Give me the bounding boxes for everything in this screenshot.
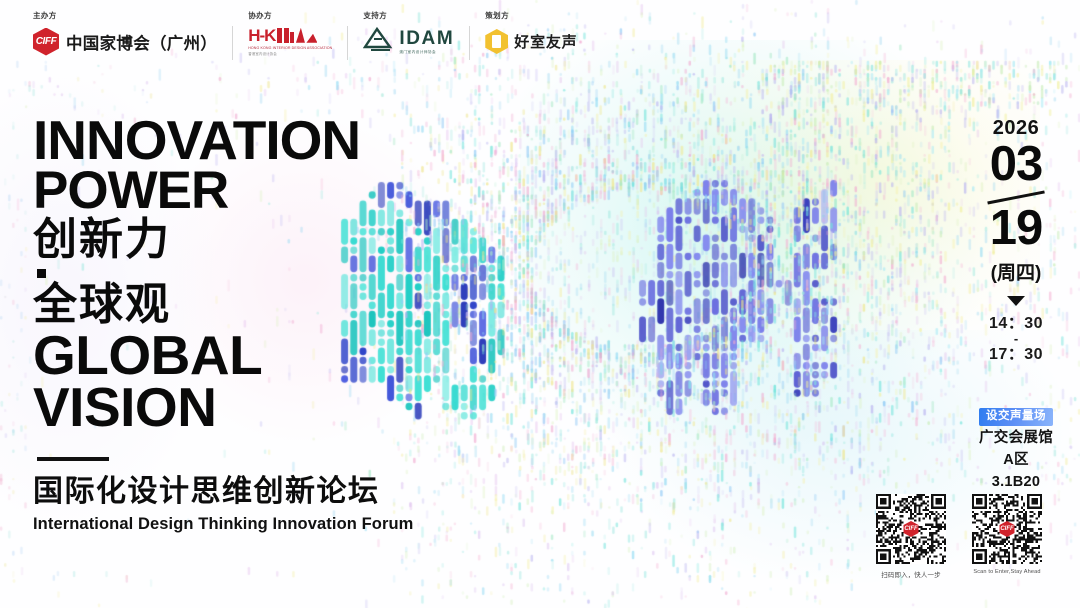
date-weekday: (周四) bbox=[960, 258, 1072, 285]
subtitle-en: International Design Thinking Innovation… bbox=[33, 515, 413, 534]
partner-planner-label: 策划方 bbox=[485, 12, 577, 20]
hkida-subtitle-cn: 香港室内设计协会 bbox=[248, 52, 332, 57]
date-day: 19 bbox=[960, 204, 1072, 253]
date-rail: 2026 03 19 (周四) 14：30 - 17：30 bbox=[960, 118, 1072, 363]
partner-divider-2 bbox=[347, 26, 348, 60]
qr-code-cn[interactable]: CIFF bbox=[876, 494, 946, 564]
headline-rule bbox=[37, 457, 109, 461]
date-month: 03 bbox=[960, 140, 1072, 189]
partner-bar: 主办方 CIFF 中国家博会（广州） 协办方 H-K bbox=[0, 0, 1080, 78]
venue-booth: 3.1B20 bbox=[960, 473, 1072, 492]
time-start: 14：30 bbox=[960, 315, 1072, 332]
partner-supporter-label: 支持方 bbox=[363, 12, 454, 20]
poster-canvas: 主办方 CIFF 中国家博会（广州） 协办方 H-K bbox=[0, 0, 1080, 608]
hkida-icon: H-K HONG KONG INTERIOR DESIGN ASSOCIATIO… bbox=[248, 26, 332, 57]
time-end: 17：30 bbox=[960, 346, 1072, 363]
partner-coorganizer-label: 协办方 bbox=[248, 12, 332, 20]
partner-supporter-name: IDAM bbox=[399, 29, 454, 48]
partner-organizer-label: 主办方 bbox=[33, 12, 217, 20]
partner-planner: 策划方 好室友声 bbox=[485, 12, 577, 57]
idam-subtitle: 澳门室内设计师协会 bbox=[399, 50, 454, 55]
venue-hall: 广交会展馆 bbox=[960, 429, 1072, 448]
qr-zone: CIFF 扫码即入，快人一步 CIFF Scan to Enter,Stay A… bbox=[876, 494, 1076, 579]
partner-divider-3 bbox=[469, 26, 470, 60]
headline-line-vision: VISION bbox=[33, 381, 413, 433]
partner-organizer: 主办方 CIFF 中国家博会（广州） bbox=[33, 12, 217, 57]
qr-item-cn[interactable]: CIFF 扫码即入，快人一步 bbox=[876, 494, 946, 579]
partner-divider-1 bbox=[232, 26, 233, 60]
partner-supporter: 支持方 IDAM 澳门室内设计师协会 bbox=[363, 12, 454, 57]
venue-block: 设交声量场 广交会展馆 A区 3.1B20 bbox=[960, 406, 1072, 493]
ciff-hexagon-icon: CIFF bbox=[33, 28, 59, 56]
headline-line-innovation: INNOVATION bbox=[33, 115, 413, 166]
partner-coorganizer: 协办方 H-K HONG KONG INTERIOR DESIGN ASSOC bbox=[248, 12, 332, 57]
subtitle-cn: 国际化设计思维创新论坛 bbox=[33, 475, 413, 508]
venue-zone: A区 bbox=[960, 451, 1072, 470]
headline-line-chuangxinli: 创新力 bbox=[33, 215, 413, 264]
headline-line-quanqiuguan: 全球观 bbox=[33, 280, 413, 329]
headline-separator-dot bbox=[37, 269, 46, 278]
idam-mountain-icon bbox=[363, 26, 393, 57]
qr-caption-en: Scan to Enter,Stay Ahead bbox=[972, 569, 1042, 575]
date-year: 2026 bbox=[960, 118, 1072, 138]
partner-planner-name: 好室友声 bbox=[514, 31, 577, 52]
headline-line-power: POWER bbox=[33, 166, 413, 215]
qr-code-en[interactable]: CIFF bbox=[972, 494, 1042, 564]
partner-organizer-name: 中国家博会（广州） bbox=[66, 30, 217, 54]
headline-block: INNOVATION POWER 创新力 全球观 GLOBAL VISION 国… bbox=[33, 115, 413, 534]
time-dash: - bbox=[960, 332, 1072, 346]
qr-item-en[interactable]: CIFF Scan to Enter,Stay Ahead bbox=[972, 494, 1042, 579]
caret-down-icon bbox=[1007, 296, 1025, 306]
qr-caption-cn: 扫码即入，快人一步 bbox=[876, 569, 946, 579]
headline-line-global: GLOBAL bbox=[33, 329, 413, 381]
venue-badge: 设交声量场 bbox=[979, 408, 1053, 426]
haoshiyousheng-icon bbox=[485, 29, 508, 54]
